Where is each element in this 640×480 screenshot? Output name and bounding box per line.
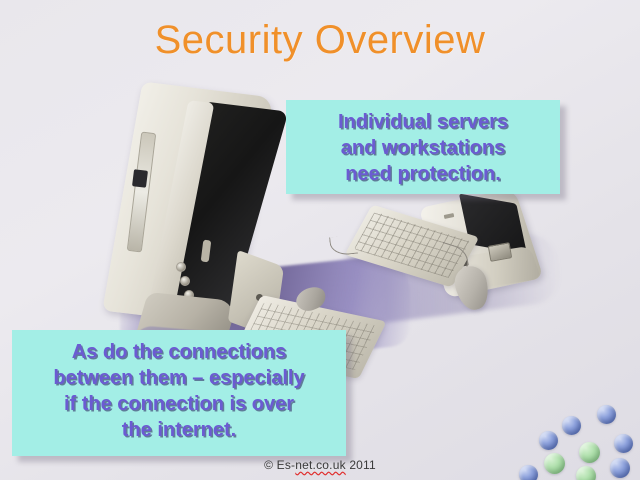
monitor-port-icon-a bbox=[176, 262, 186, 272]
decorative-sphere-blue bbox=[539, 431, 558, 450]
copyright-footer: © Es-net.co.uk 2011 bbox=[0, 458, 640, 472]
page-title: Security Overview bbox=[0, 18, 640, 63]
monitor-drive-tab bbox=[132, 169, 148, 188]
callout-line: Individual servers bbox=[286, 109, 560, 135]
copyright-domain: net.co.uk bbox=[295, 458, 346, 472]
presentation-slide: Security Overview Individ bbox=[0, 0, 640, 480]
callout-line: between them – especially bbox=[12, 365, 346, 391]
keyboard-cord bbox=[329, 235, 358, 257]
callout-line: and workstations bbox=[286, 135, 560, 161]
callout-line: As do the connections bbox=[12, 339, 346, 365]
decorative-sphere-blue bbox=[597, 405, 616, 424]
copyright-prefix: Es- bbox=[277, 458, 296, 472]
callout-line: need protection. bbox=[286, 161, 560, 187]
decorative-sphere-blue bbox=[614, 434, 633, 453]
monitor-port-icon-b bbox=[180, 276, 190, 286]
decorative-sphere-blue bbox=[562, 416, 581, 435]
callout-line: the internet. bbox=[12, 417, 346, 443]
copyright-year: 2011 bbox=[349, 458, 376, 472]
copyright-symbol: © bbox=[264, 458, 273, 472]
callout-connections-between: As do the connections between them – esp… bbox=[12, 330, 346, 456]
callout-line: if the connection is over bbox=[12, 391, 346, 417]
callout-individual-servers: Individual servers and workstations need… bbox=[286, 100, 560, 194]
